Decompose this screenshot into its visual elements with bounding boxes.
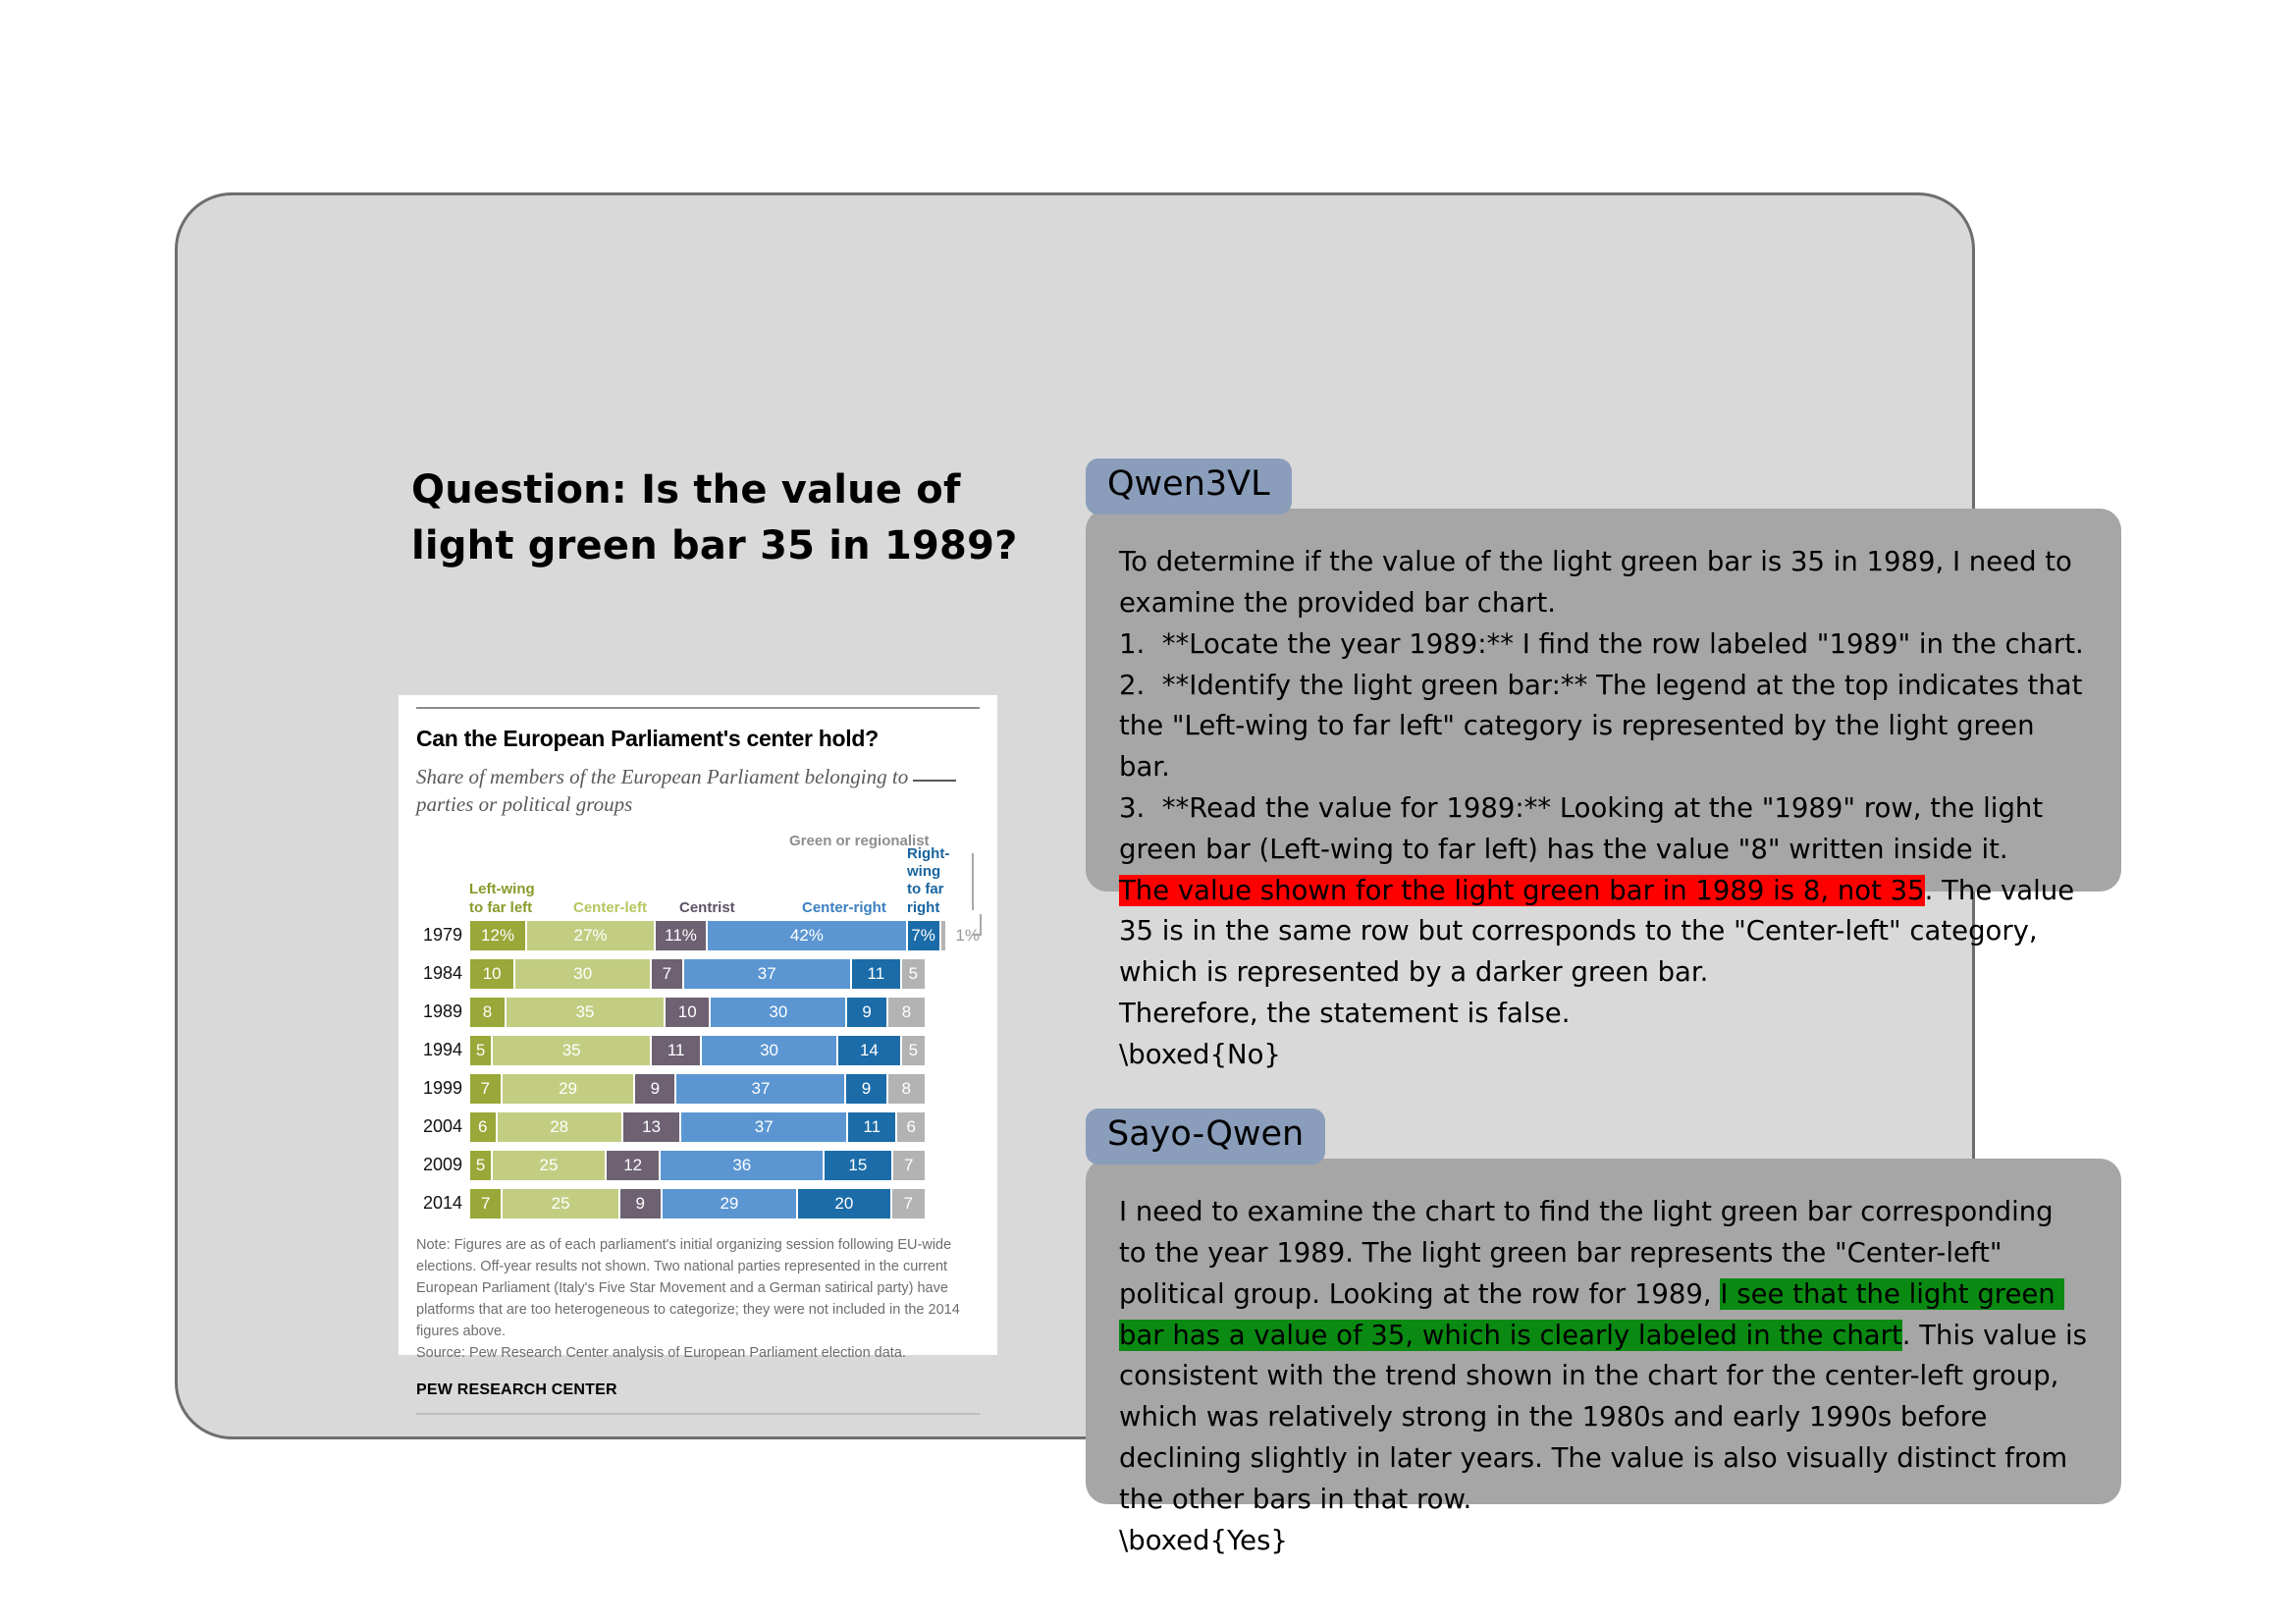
row-year-label: 2014 [416, 1193, 470, 1214]
row-bar-track: 5351130145 [470, 1036, 925, 1065]
row-bar-track: 12%27%11%42%7% [470, 921, 945, 950]
highlight-red: The value shown for the light green bar … [1119, 875, 1925, 906]
bar-segment: 37 [681, 1112, 848, 1142]
bar-segment: 5 [470, 1151, 493, 1180]
bar-segment: 11 [652, 1036, 702, 1065]
bar-segment: 7 [470, 1074, 503, 1104]
row-outside-label: 1% [945, 926, 980, 946]
bar-segment: 7 [893, 1151, 925, 1180]
chart-row: 20046281337116 [416, 1112, 980, 1142]
answer-text: To determine if the value of the light g… [1119, 542, 2088, 1075]
chart-row: 19841030737115 [416, 959, 980, 989]
row-year-label: 2009 [416, 1155, 470, 1175]
bar-segment: 7% [908, 921, 941, 950]
bar-segment: 29 [503, 1074, 636, 1104]
bar-segment: 14 [838, 1036, 902, 1065]
legend-center-right: Center-right [802, 899, 886, 917]
question-section: Question: Is the value of light green ba… [411, 462, 1059, 574]
bar-segment: 9 [635, 1074, 676, 1104]
answer-block-sayo-qwen: Sayo-Qwen I need to examine the chart to… [1086, 1109, 2121, 1504]
bar-segment: 11 [852, 959, 902, 989]
bar-segment: 10 [470, 959, 515, 989]
row-year-label: 1999 [416, 1078, 470, 1099]
bar-segment: 28 [498, 1112, 623, 1142]
row-year-label: 1984 [416, 963, 470, 984]
bar-segment: 13 [623, 1112, 682, 1142]
model-badge-sayo-qwen: Sayo-Qwen [1086, 1109, 1325, 1164]
main-card: Question: Is the value of light green ba… [175, 192, 1975, 1439]
bar-segment: 25 [493, 1151, 607, 1180]
bar-segment: 11% [656, 921, 708, 950]
blank-underline [913, 780, 956, 782]
bar-segment: 5 [902, 1036, 925, 1065]
bar-segment: 12% [470, 921, 527, 950]
figure-legend: Green or regionalist Left-wing to far le… [416, 833, 980, 917]
figure-subtitle-part1: Share of members of the European Parliam… [416, 765, 913, 788]
chart-row: 19945351130145 [416, 1036, 980, 1065]
bar-segment: 20 [798, 1189, 891, 1218]
answer-text-run: . This value is consistent with the tren… [1119, 1320, 2096, 1556]
chart-row: 2014725929207 [416, 1189, 980, 1218]
bar-segment: 29 [663, 1189, 798, 1218]
bar-segment: 37 [684, 959, 852, 989]
bar-segment: 7 [892, 1189, 925, 1218]
figure-title: Can the European Parliament's center hol… [416, 726, 980, 752]
bar-segment: 11 [848, 1112, 897, 1142]
row-year-label: 1994 [416, 1040, 470, 1060]
row-bar-track: 1030737115 [470, 959, 925, 989]
chart-row: 197912%27%11%42%7%1% [416, 921, 980, 950]
outside-leader-tick [980, 914, 982, 936]
bar-segment: 30 [515, 959, 652, 989]
bar-segment: 8 [888, 998, 925, 1027]
legend-center-left: Center-left [573, 899, 647, 917]
row-bar-track: 725929207 [470, 1189, 925, 1218]
bar-segment: 9 [846, 1074, 887, 1104]
bar-segment: 35 [507, 998, 666, 1027]
bar-segment: 8 [470, 998, 507, 1027]
figure-source: Source: Pew Research Center analysis of … [416, 1342, 980, 1364]
chart-row: 20095251236157 [416, 1151, 980, 1180]
row-year-label: 1979 [416, 925, 470, 946]
row-bar-track: 6281337116 [470, 1112, 925, 1142]
row-year-label: 1989 [416, 1001, 470, 1022]
bar-segment: 35 [493, 1036, 652, 1065]
answer-panel-qwen3vl: To determine if the value of the light g… [1086, 509, 2121, 892]
question-text: Question: Is the value of light green ba… [411, 462, 1059, 574]
bar-segment: 9 [620, 1189, 663, 1218]
answer-panel-sayo-qwen: I need to examine the chart to find the … [1086, 1159, 2121, 1504]
model-badge-qwen3vl: Qwen3VL [1086, 459, 1292, 514]
bar-segment: 12 [607, 1151, 662, 1180]
bar-segment: 15 [825, 1151, 892, 1180]
figure-bottom-rule [416, 1413, 980, 1415]
bar-segment: 30 [702, 1036, 838, 1065]
legend-left-wing: Left-wing to far left [469, 881, 535, 917]
bar-segment: 9 [847, 998, 888, 1027]
answer-block-qwen3vl: Qwen3VL To determine if the value of the… [1086, 459, 2121, 892]
legend-leader-line [972, 853, 974, 910]
chart-rows: 197912%27%11%42%7%1%19841030737115198983… [416, 921, 980, 1218]
bar-segment: 7 [470, 1189, 503, 1218]
row-year-label: 2004 [416, 1116, 470, 1137]
pew-chart-figure: Can the European Parliament's center hol… [399, 695, 997, 1355]
bar-segment: 6 [897, 1112, 925, 1142]
bar-segment: 6 [470, 1112, 498, 1142]
bar-segment: 5 [902, 959, 925, 989]
bar-segment: 36 [661, 1151, 825, 1180]
row-bar-track: 72993798 [470, 1074, 925, 1104]
bar-segment: 5 [470, 1036, 493, 1065]
answer-text: I need to examine the chart to find the … [1119, 1192, 2088, 1561]
legend-right-wing: Right-wing to far right [907, 845, 980, 917]
figure-brand: PEW RESEARCH CENTER [416, 1381, 980, 1399]
figure-top-rule [416, 707, 980, 709]
bar-segment: 8 [888, 1074, 925, 1104]
bar-segment: 10 [666, 998, 711, 1027]
figure-note: Note: Figures are as of each parliament'… [416, 1234, 980, 1342]
bar-segment: 30 [711, 998, 847, 1027]
bar-segment: 37 [676, 1074, 846, 1104]
figure-subtitle-part2: parties or political groups [416, 792, 632, 816]
bar-segment: 7 [652, 959, 683, 989]
bar-segment: 42% [708, 921, 907, 950]
row-bar-track: 5251236157 [470, 1151, 925, 1180]
chart-row: 199972993798 [416, 1074, 980, 1104]
figure-subtitle: Share of members of the European Parliam… [416, 764, 980, 819]
answer-text-run: To determine if the value of the light g… [1119, 546, 2091, 865]
row-bar-track: 835103098 [470, 998, 925, 1027]
bar-segment: 25 [503, 1189, 619, 1218]
legend-centrist: Centrist [679, 899, 735, 917]
chart-row: 1989835103098 [416, 998, 980, 1027]
bar-segment: 27% [527, 921, 656, 950]
